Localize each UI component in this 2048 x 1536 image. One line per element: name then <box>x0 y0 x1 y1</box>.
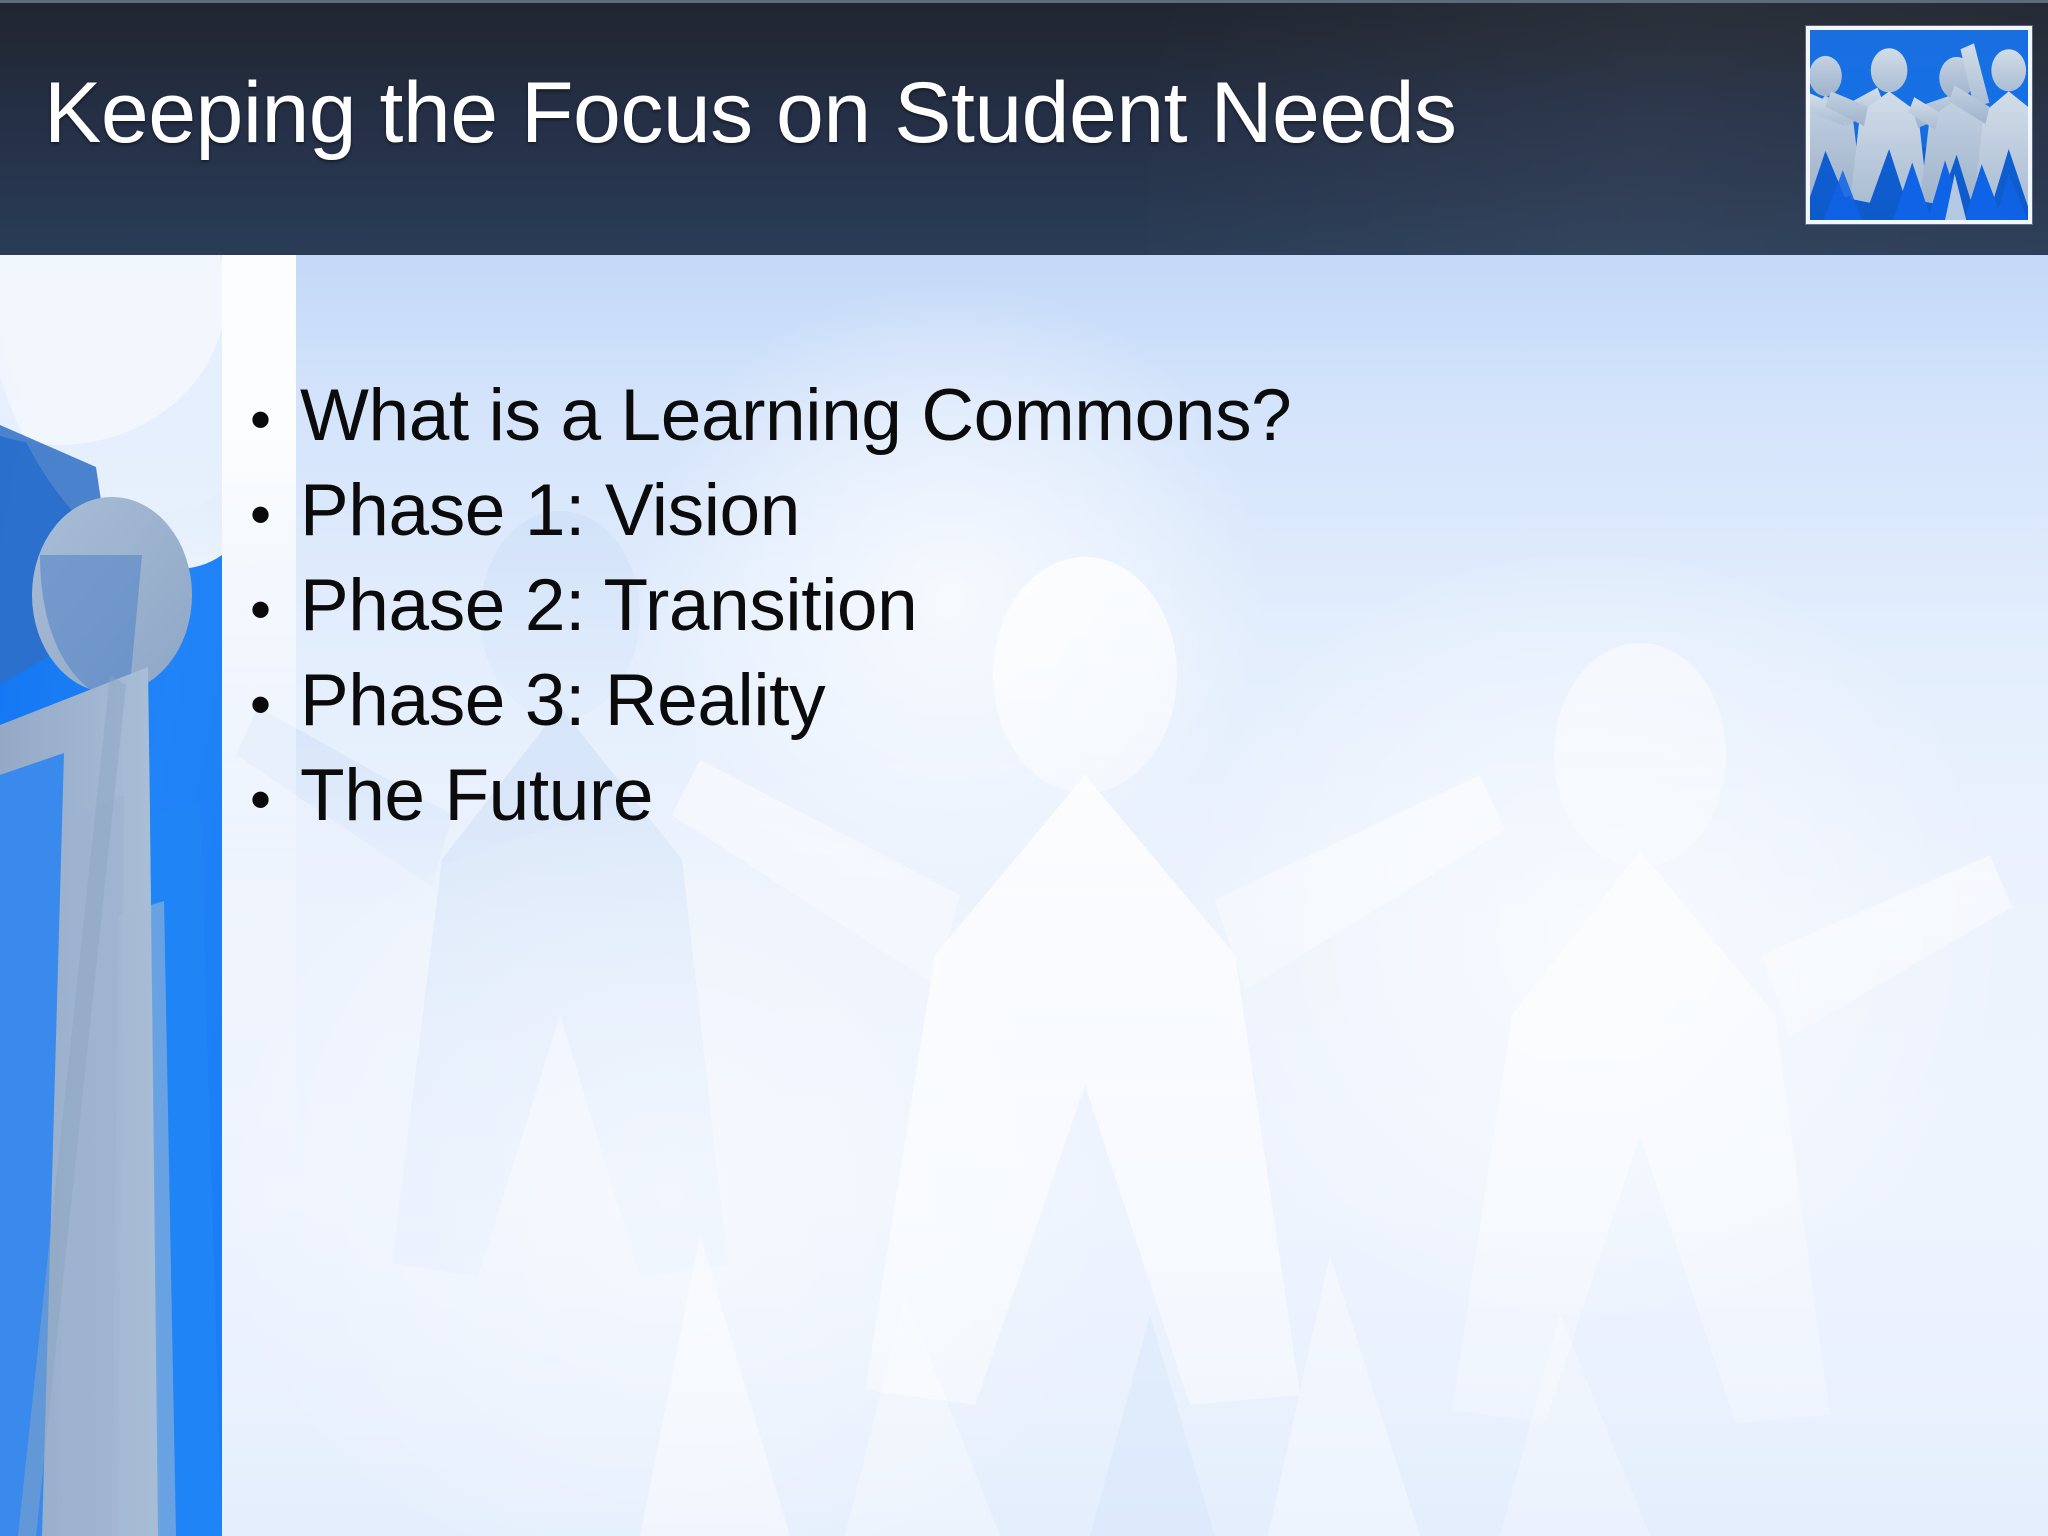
list-item: • Phase 1: Vision <box>236 463 1956 558</box>
bullet-point-icon: • <box>236 562 300 657</box>
list-item: • Phase 3: Reality <box>236 653 1956 748</box>
list-item: • What is a Learning Commons? <box>236 368 1956 463</box>
bullet-label: Phase 2: Transition <box>300 558 1956 653</box>
bullet-point-icon: • <box>236 372 300 467</box>
slide-bullet-list: • What is a Learning Commons? • Phase 1:… <box>236 368 1956 843</box>
bullet-label: Phase 1: Vision <box>300 463 1956 558</box>
bullet-point-icon: • <box>236 467 300 562</box>
list-item: • Phase 2: Transition <box>236 558 1956 653</box>
people-holding-hands-logo <box>1806 26 2032 224</box>
list-item: • The Future <box>236 748 1956 843</box>
background-light-bloom <box>220 815 1120 1536</box>
bullet-label: Phase 3: Reality <box>300 653 1956 748</box>
bullet-label: The Future <box>300 748 1956 843</box>
presentation-slide: Keeping the Focus on Student Needs <box>0 0 2048 1536</box>
bullet-label: What is a Learning Commons? <box>300 368 1956 463</box>
left-paper-figure-strip <box>0 255 222 1536</box>
bullet-point-icon: • <box>236 752 300 847</box>
page-title: Keeping the Focus on Student Needs <box>44 65 1784 161</box>
slide-title-bar: Keeping the Focus on Student Needs <box>0 0 2048 255</box>
bullet-point-icon: • <box>236 657 300 752</box>
